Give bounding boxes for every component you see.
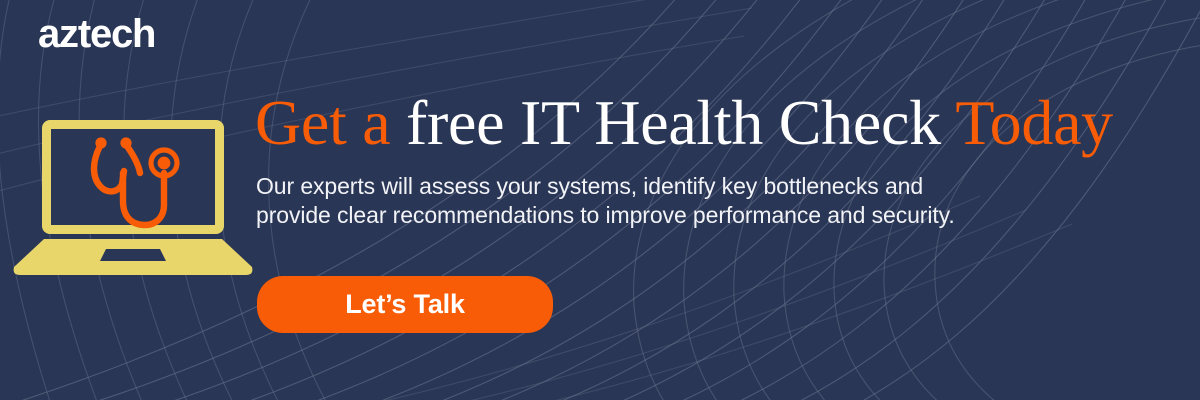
headline-main: free IT Health Check [406, 87, 955, 158]
promo-banner: aztech Get a free IT Health Check Today [0, 0, 1200, 400]
laptop-with-stethoscope-illustration [8, 115, 258, 280]
lets-talk-button[interactable]: Let’s Talk [257, 276, 553, 333]
stethoscope-eartip-left [95, 137, 106, 148]
laptop-trackpad [100, 249, 166, 261]
brand-logo: aztech [38, 14, 155, 54]
stethoscope-eartip-right [120, 137, 131, 148]
laptop-screen-display [51, 129, 215, 225]
headline-accent-trailing: Today [955, 87, 1113, 158]
stethoscope-chestpiece-center [158, 157, 171, 170]
subheadline-line-1: Our experts will assess your systems, id… [256, 173, 923, 199]
subheadline-line-2: provide clear recommendations to improve… [256, 202, 955, 228]
headline-accent-leading: Get a [255, 87, 406, 158]
headline: Get a free IT Health Check Today [255, 90, 1113, 156]
subheadline: Our experts will assess your systems, id… [256, 172, 1176, 229]
